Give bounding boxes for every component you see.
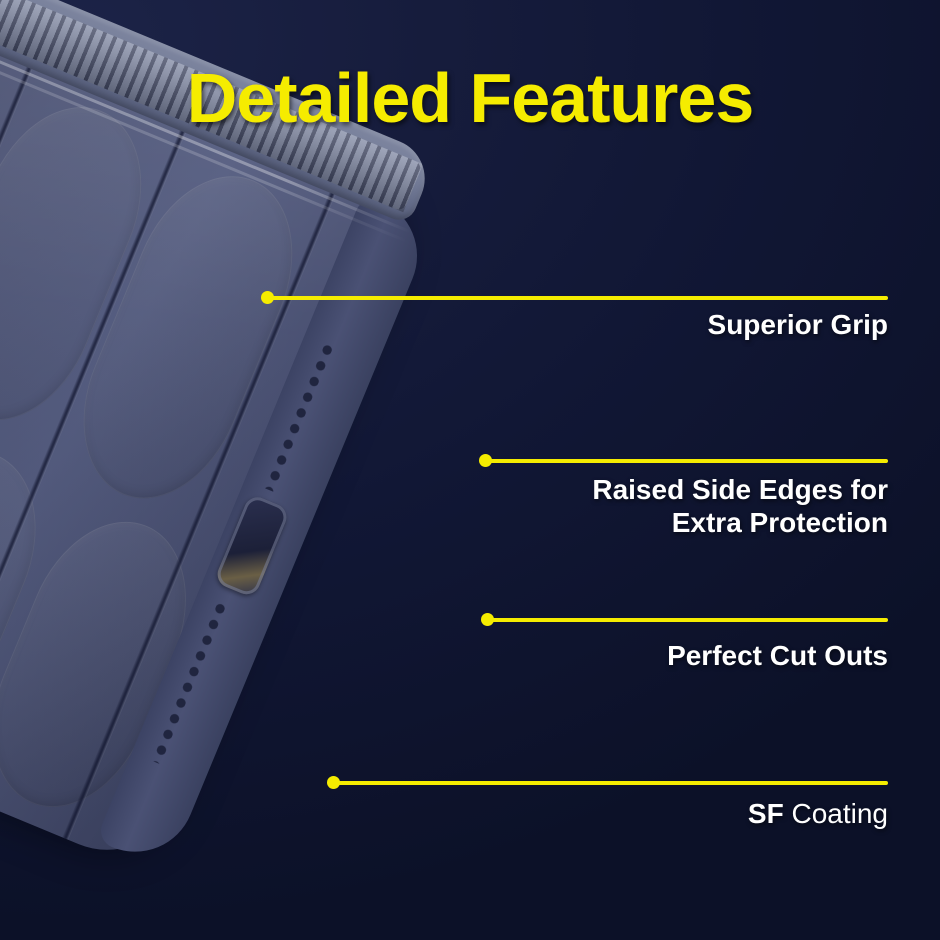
page-title: Detailed Features xyxy=(0,58,940,138)
callout-line-raised-side-edges xyxy=(486,459,888,463)
callout-line-perfect-cut-outs xyxy=(488,618,888,622)
callout-dot-sf-coating xyxy=(327,776,340,789)
callout-line-sf-coating xyxy=(334,781,888,785)
callout-dot-raised-side-edges xyxy=(479,454,492,467)
callout-label-perfect-cut-outs: Perfect Cut Outs xyxy=(667,639,888,672)
callout-label-sf-coating: SF Coating xyxy=(748,797,888,830)
callout-label-sf-coating-regular: Coating xyxy=(784,798,888,829)
callout-label-raised-side-edges: Raised Side Edges for Extra Protection xyxy=(592,473,888,539)
callout-dot-perfect-cut-outs xyxy=(481,613,494,626)
callout-label-superior-grip: Superior Grip xyxy=(708,308,888,341)
callout-label-sf-coating-bold: SF xyxy=(748,798,784,829)
product-image-phone-case xyxy=(0,0,704,940)
infographic-canvas: Detailed Features Superior Grip Raised S… xyxy=(0,0,940,940)
callout-line-superior-grip xyxy=(268,296,888,300)
callout-dot-superior-grip xyxy=(261,291,274,304)
